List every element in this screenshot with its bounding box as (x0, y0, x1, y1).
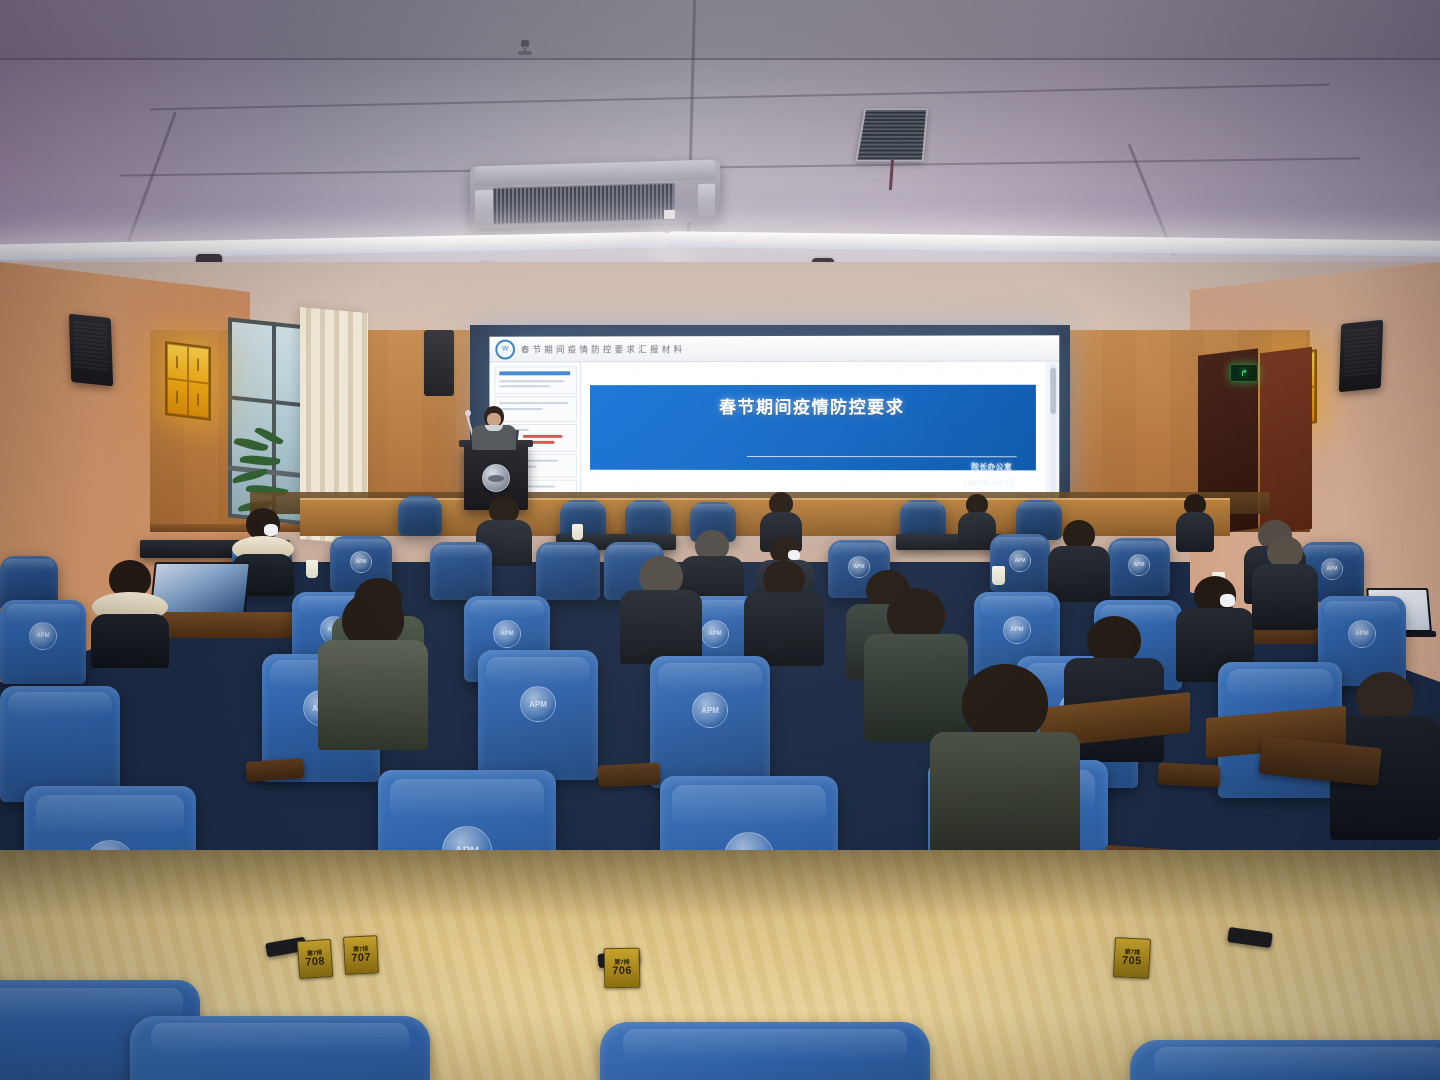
podium-emblem (482, 464, 510, 492)
attendee (88, 560, 172, 664)
attendee (318, 592, 428, 742)
seat[interactable]: APM (650, 656, 770, 788)
seat[interactable] (600, 1022, 930, 1080)
slide-thumbnail[interactable] (494, 366, 577, 394)
seat-emblem-text: APM (1133, 562, 1144, 568)
seat-emblem-text: APM (701, 706, 719, 715)
seat-emblem: APM (1321, 558, 1343, 580)
seat-emblem: APM (29, 622, 57, 650)
wall-sconce-light (165, 341, 211, 421)
seat[interactable] (130, 1016, 430, 1080)
seat-emblem-text: APM (1014, 558, 1025, 564)
office-logo-glyph: W (502, 346, 509, 353)
paper-cup (992, 566, 1005, 585)
presentation-app-toolbar: W 春 节 期 间 疫 情 防 控 要 求 汇 报 材 料 (489, 335, 1059, 362)
armrest (597, 762, 660, 787)
seat-emblem-text: APM (1355, 631, 1368, 637)
seat-emblem-text: APM (708, 631, 721, 637)
attendee (1252, 536, 1318, 628)
projection-screen: W 春 节 期 间 疫 情 防 控 要 求 汇 报 材 料 (489, 335, 1059, 504)
attendee (1048, 520, 1110, 598)
wall-speaker (69, 314, 113, 387)
slide-organization-text: 院长办公室 (971, 462, 1012, 473)
seat-emblem: APM (350, 551, 372, 573)
seat[interactable] (1130, 1040, 1440, 1080)
attendee (620, 556, 702, 660)
seat-number-label: 706 (612, 965, 632, 976)
seat-emblem: APM (1009, 550, 1031, 572)
attendee (744, 560, 824, 664)
seat-number-plate: 第7排 705 (1113, 937, 1151, 979)
seat-emblem: APM (1128, 554, 1150, 576)
slide-canvas: 春节期间疫情防控要求 院长办公室 2021年2月7日 (581, 362, 1045, 505)
slide-date-text: 2021年2月7日 (963, 477, 1017, 488)
seat-number-plate: 第7排 708 (297, 939, 334, 979)
seat-emblem: APM (520, 686, 556, 722)
seat-emblem-text: APM (500, 631, 513, 637)
seat-emblem: APM (692, 692, 728, 728)
seat-number-plate: 第7排 707 (343, 935, 379, 975)
seat-emblem: APM (493, 620, 521, 648)
office-logo-icon: W (495, 339, 515, 359)
scrollbar[interactable] (1050, 364, 1056, 503)
seat-emblem-text: APM (1010, 627, 1023, 633)
wall-speaker (424, 330, 454, 396)
seat-emblem: APM (1348, 620, 1376, 648)
presenter (470, 406, 518, 448)
face-mask (1220, 594, 1235, 607)
armrest (245, 758, 304, 782)
sprinkler-head-icon (518, 40, 532, 56)
wall-speaker (1339, 320, 1383, 393)
seat-emblem-text: APM (355, 559, 366, 565)
seat[interactable]: APM (0, 600, 86, 684)
slide-title-text: 春节期间疫情防控要求 (581, 393, 1045, 418)
attendee (958, 494, 996, 548)
exit-sign-glyph: ↱ (1240, 369, 1248, 378)
seat[interactable] (398, 496, 442, 536)
seat-emblem-text: APM (529, 700, 547, 709)
face-mask (788, 550, 800, 560)
document-title: 春 节 期 间 疫 情 防 控 要 求 汇 报 材 料 (521, 343, 683, 355)
seat-emblem-text: APM (36, 633, 49, 639)
seat-emblem: APM (1003, 616, 1031, 644)
seat-number-label: 708 (305, 956, 325, 968)
seat[interactable]: APM (478, 650, 598, 780)
paper-cup (306, 560, 318, 578)
paper-cup (572, 524, 583, 540)
seat-number-label: 707 (351, 952, 371, 964)
seat-emblem: APM (701, 620, 729, 648)
face-mask (264, 524, 278, 536)
ceiling-vent-grille (855, 108, 928, 161)
seat[interactable] (0, 686, 120, 802)
ceiling-air-conditioner (470, 160, 720, 229)
seat-number-label: 705 (1122, 955, 1142, 967)
attendee (930, 664, 1080, 854)
seat[interactable]: APM (1108, 538, 1170, 596)
floor-shadow (0, 850, 1440, 920)
attendee (1176, 494, 1214, 550)
auditorium-photo: ↱ W 春 节 期 间 疫 情 防 控 要 求 汇 报 材 料 (0, 0, 1440, 1080)
seat[interactable] (430, 542, 492, 600)
ceiling-panel (0, 0, 1440, 60)
exit-sign: ↱ (1230, 364, 1258, 382)
armrest (1157, 762, 1220, 787)
seat-emblem-text: APM (1326, 566, 1337, 572)
seat-number-plate: 第7排 706 (604, 948, 641, 989)
ceiling-seam (0, 58, 1440, 60)
seat[interactable] (536, 542, 600, 600)
